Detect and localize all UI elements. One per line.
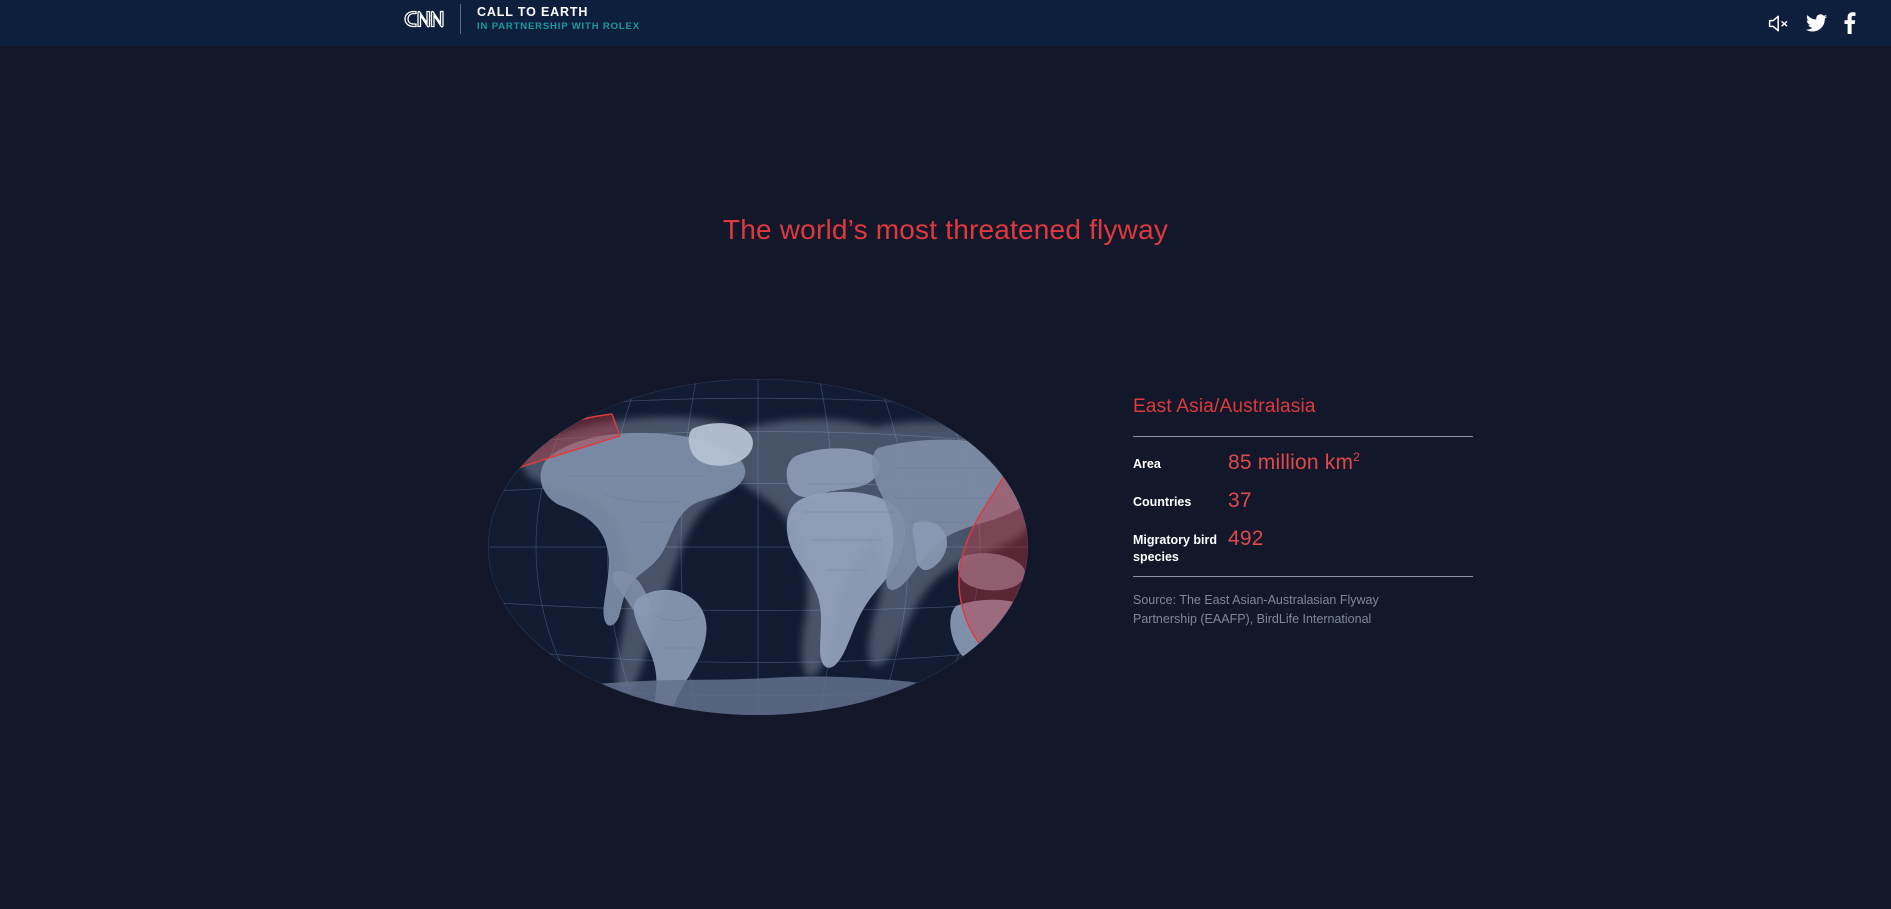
stat-value-text: 85 million km [1228,451,1353,474]
stat-row-countries: Countries 37 [1133,489,1473,527]
stat-value: 85 million km2 [1228,451,1360,475]
stats-list: Area 85 million km2 Countries 37 Migrato… [1133,437,1473,576]
brand-title: CALL TO EARTH [477,5,640,20]
social-links [1768,0,1856,46]
stat-row-migratory-bird-species: Migratory bird species 492 [1133,527,1473,566]
source-note: Source: The East Asian-Australasian Flyw… [1133,577,1443,629]
stat-label: Countries [1133,489,1228,511]
facebook-icon[interactable] [1844,12,1856,34]
site-header: CALL TO EARTH IN PARTNERSHIP WITH ROLEX [0,0,1891,46]
cnn-logo[interactable] [399,6,446,32]
mute-icon[interactable] [1768,14,1789,33]
stat-row-area: Area 85 million km2 [1133,451,1473,489]
brand-divider [460,4,461,34]
twitter-icon[interactable] [1806,14,1827,32]
page-title: The world’s most threatened flyway [0,214,1891,246]
flyway-info-panel: East Asia/Australasia Area 85 million km… [1133,395,1473,629]
brand-lockup[interactable]: CALL TO EARTH IN PARTNERSHIP WITH ROLEX [399,4,640,34]
panel-heading: East Asia/Australasia [1133,395,1473,436]
stat-label: Migratory bird species [1133,527,1228,566]
stat-value-superscript: 2 [1353,450,1360,464]
world-flyway-map[interactable] [408,372,1108,722]
brand-subtitle: IN PARTNERSHIP WITH ROLEX [477,20,640,33]
stat-value: 37 [1228,489,1252,513]
stat-value: 492 [1228,527,1264,551]
stat-label: Area [1133,451,1228,473]
